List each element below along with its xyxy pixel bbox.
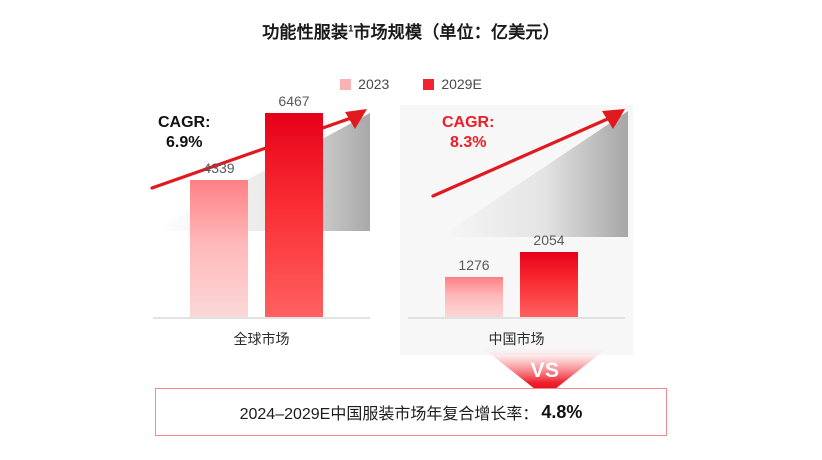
legend-label-2023: 2023 <box>358 76 389 92</box>
bar-group-global-2029e[interactable]: 6467 <box>265 113 323 318</box>
page-title-main: 功能性服装 <box>262 23 348 42</box>
category-label-global: 全球市场 <box>145 329 378 349</box>
legend-label-2029e: 2029E <box>441 76 481 92</box>
bar-global-2029e[interactable] <box>265 113 323 318</box>
page-title-rest: 市场规模（单位：亿美元） <box>353 23 559 42</box>
bar-value-china-2029e: 2054 <box>506 232 592 248</box>
chart-plot-area: CAGR: 6.9% 4339 6467 全球市场 <box>0 105 822 355</box>
bar-china-2029e[interactable] <box>520 252 578 318</box>
legend-swatch-icon-2023 <box>340 79 351 90</box>
legend-item-2023[interactable]: 2023 <box>340 76 389 92</box>
bar-group-china-2023[interactable]: 1276 <box>445 277 503 318</box>
axis-baseline-china <box>408 317 625 319</box>
bar-china-2023[interactable] <box>445 277 503 318</box>
panel-global-market: CAGR: 6.9% 4339 6467 全球市场 <box>145 105 378 355</box>
page-title: 功能性服装1市场规模（单位：亿美元） <box>0 18 822 43</box>
vs-label: VS <box>479 359 611 383</box>
callout-value: 4.8% <box>541 402 582 423</box>
panel-china-market: CAGR: 8.3% 1276 2054 中国市场 <box>400 105 633 355</box>
bar-value-global-2023: 4339 <box>176 160 262 176</box>
chart-legend: 2023 2029E <box>0 76 822 92</box>
bars-china: 1276 2054 <box>400 110 633 318</box>
bar-value-global-2029e: 6467 <box>251 93 337 109</box>
bar-group-china-2029e[interactable]: 2054 <box>520 252 578 318</box>
axis-baseline-global <box>153 317 370 319</box>
callout-text: 2024–2029E中国服装市场年复合增长率： <box>240 400 539 424</box>
bar-value-china-2023: 1276 <box>431 257 517 273</box>
legend-swatch-icon-2029e <box>423 79 434 90</box>
bars-global: 4339 6467 <box>145 110 378 318</box>
bar-group-global-2023[interactable]: 4339 <box>190 180 248 318</box>
cagr-callout-box: 2024–2029E中国服装市场年复合增长率： 4.8% <box>155 388 667 436</box>
legend-item-2029e[interactable]: 2029E <box>423 76 481 92</box>
bar-global-2023[interactable] <box>190 180 248 318</box>
